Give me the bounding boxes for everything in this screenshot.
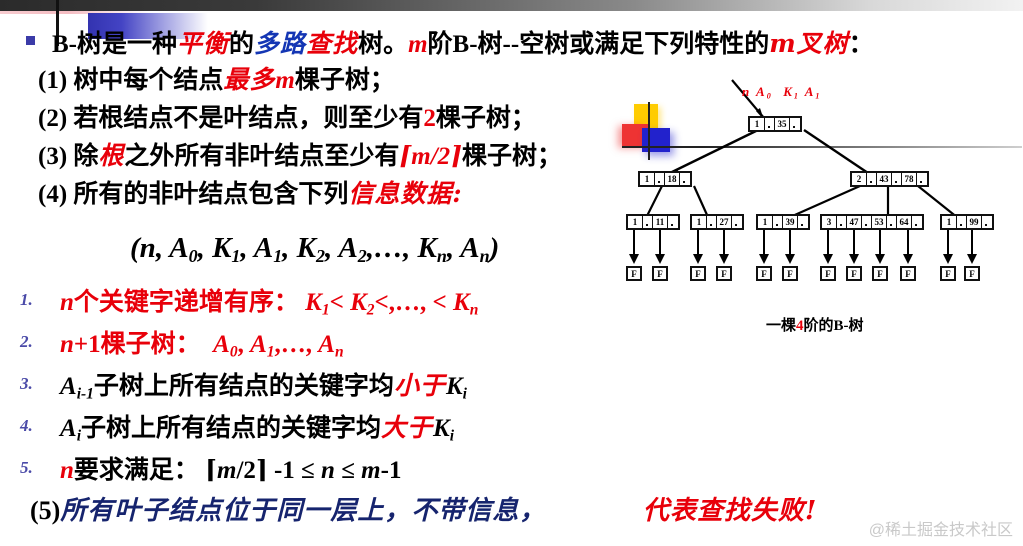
node-key-count: 1 <box>692 216 707 228</box>
btree-edges <box>620 78 1020 348</box>
node-pointer <box>798 216 808 228</box>
node-key-count: 2 <box>852 173 867 185</box>
property-4-pre: (4) 所有的非叶结点包含下列 <box>38 181 348 208</box>
property-1-pre: (1) 树中每个结点 <box>38 67 223 94</box>
list-marker-2: 2. <box>20 332 33 352</box>
list-item-1: n个关键字递增有序： K1< K2<,…, < Kn <box>60 282 478 319</box>
header-gradient-bar <box>0 0 1023 11</box>
btree-leaf: F <box>782 266 798 281</box>
property-2: (2) 若根结点不是叶结点，则至少有2棵子树； <box>38 98 536 134</box>
node-pointer <box>732 216 742 228</box>
node-key: 18 <box>665 173 680 185</box>
node-key: 78 <box>902 173 917 185</box>
list-item-5-var: n <box>60 457 74 484</box>
node-key-count: 1 <box>628 216 643 228</box>
list-item-5: n要求满足： ⌈m/2⌉ -1 ≤ n ≤ m-1 <box>60 450 401 486</box>
node-pointer <box>862 216 872 228</box>
list-marker-4: 4. <box>20 416 33 436</box>
title-seg-2: 的 <box>229 31 254 58</box>
title-seg-8: m叉树 <box>769 29 848 58</box>
node-key-count: 1 <box>750 118 765 130</box>
btree-node-level3-4: 3 47 53 64 <box>820 214 924 230</box>
watermark: @稀土掘金技术社区 <box>869 516 1013 540</box>
title-seg-9: ： <box>849 31 874 58</box>
caption-order: 4 <box>796 318 804 334</box>
caption-pre: 一棵 <box>766 318 796 334</box>
property-4-emphasis: 信息数据: <box>348 179 462 208</box>
title-seg-3: 多路 <box>254 29 306 58</box>
btree-node-level2-left: 1 18 <box>638 171 692 187</box>
btree-leaf: F <box>716 266 732 281</box>
node-key: 99 <box>967 216 982 228</box>
btree-leaf: F <box>820 266 836 281</box>
title-seg-6: m <box>408 31 427 58</box>
btree-leaf: F <box>690 266 706 281</box>
node-structure-formula: (n, A0, K1, A1, K2, A2,…, Kn, An) <box>130 232 499 267</box>
node-pointer <box>887 216 897 228</box>
node-key-count: 1 <box>640 173 655 185</box>
node-pointer <box>668 216 678 228</box>
diagram-caption: 一棵4阶的B-树 <box>766 314 864 335</box>
property-1: (1) 树中每个结点最多m棵子树； <box>38 60 395 96</box>
node-pointer <box>790 118 800 130</box>
title-seg-1: 平衡 <box>177 29 229 58</box>
property-3-fraction: ⌈m/2⌉ <box>399 143 462 170</box>
btree-leaf: F <box>652 266 668 281</box>
title-line: B-树是一种平衡的多路查找树。m阶B-树--空树或满足下列特性的m叉树： <box>52 24 874 60</box>
list-item-2: n+1棵子树： A0, A1,…, An <box>60 324 344 361</box>
title-seg-7: 阶B-树--空树或满足下列特性的 <box>428 31 770 58</box>
btree-node-level3-5: 1 99 <box>940 214 994 230</box>
list-marker-5: 5. <box>20 458 33 478</box>
btree-leaf: F <box>900 266 916 281</box>
btree-leaf: F <box>756 266 772 281</box>
btree-node-level3-1: 1 11 <box>626 214 680 230</box>
conclusion-line: (5)所有叶子结点位于同一层上，不带信息， 代表查找失败! <box>30 490 817 527</box>
root-field-labels: n A0 K1 A1 <box>742 84 821 100</box>
bullet-marker <box>26 36 35 45</box>
property-3-mid: 之外所有非叶结点至少有 <box>124 143 399 170</box>
btree-node-level2-right: 2 43 78 <box>850 171 929 187</box>
node-pointer <box>912 216 922 228</box>
caption-post: 阶的B-树 <box>804 318 864 334</box>
node-key: 47 <box>847 216 862 228</box>
property-3-emphasis: 根 <box>98 141 124 170</box>
title-seg-5: 树。 <box>358 31 408 58</box>
node-pointer <box>643 216 653 228</box>
node-pointer <box>957 216 967 228</box>
btree-node-level3-3: 1 39 <box>756 214 810 230</box>
node-key: 39 <box>783 216 798 228</box>
node-pointer <box>892 173 902 185</box>
property-2-post: 棵子树； <box>436 105 536 132</box>
node-pointer <box>765 118 775 130</box>
list-item-3: Ai-1子树上所有结点的关键字均小于Ki <box>60 366 467 403</box>
node-key-count: 1 <box>758 216 773 228</box>
list-marker-1: 1. <box>20 290 33 310</box>
node-key-count: 1 <box>942 216 957 228</box>
btree-node-root: 1 35 <box>748 116 802 132</box>
list-item-4-emphasis: 大于 <box>381 413 433 442</box>
property-1-emphasis: 最多 <box>223 65 275 94</box>
node-pointer <box>867 173 877 185</box>
property-1-var: m <box>275 67 294 94</box>
property-1-post: 棵子树； <box>295 67 395 94</box>
node-key-count: 3 <box>822 216 837 228</box>
property-4: (4) 所有的非叶结点包含下列信息数据: <box>38 174 463 210</box>
node-pointer <box>982 216 992 228</box>
title-seg-4: 查找 <box>306 29 358 58</box>
node-pointer <box>680 173 690 185</box>
property-2-emphasis: 2 <box>423 105 436 132</box>
node-key: 11 <box>653 216 668 228</box>
list-item-4: Ai子树上所有结点的关键字均大于Ki <box>60 408 454 445</box>
node-pointer <box>707 216 717 228</box>
node-pointer <box>655 173 665 185</box>
node-pointer <box>917 173 927 185</box>
list-item-3-emphasis: 小于 <box>394 371 446 400</box>
property-3-pre: (3) 除 <box>38 143 98 170</box>
btree-leaf: F <box>626 266 642 281</box>
property-3-post: 棵子树； <box>462 143 562 170</box>
conclusion-emphasis: 代表查找失败! <box>643 496 817 526</box>
node-pointer <box>773 216 783 228</box>
title-seg-0: B-树是一种 <box>52 31 177 58</box>
btree-node-level3-2: 1 27 <box>690 214 744 230</box>
btree-leaf: F <box>846 266 862 281</box>
property-3: (3) 除根之外所有非叶结点至少有⌈m/2⌉棵子树； <box>38 136 562 172</box>
btree-leaf: F <box>872 266 888 281</box>
node-key: 64 <box>897 216 912 228</box>
node-key: 27 <box>717 216 732 228</box>
node-key: 43 <box>877 173 892 185</box>
node-key: 35 <box>775 118 790 130</box>
conclusion-marker: (5) <box>30 496 60 525</box>
property-2-pre: (2) 若根结点不是叶结点，则至少有 <box>38 105 423 132</box>
conclusion-main: 所有叶子结点位于同一层上，不带信息， <box>60 496 546 526</box>
btree-leaf: F <box>964 266 980 281</box>
node-key: 53 <box>872 216 887 228</box>
node-pointer <box>837 216 847 228</box>
btree-diagram: n A0 K1 A1 1 35 1 18 2 43 78 1 11 1 27 1 <box>620 78 1020 348</box>
btree-leaf: F <box>940 266 956 281</box>
list-marker-3: 3. <box>20 374 33 394</box>
